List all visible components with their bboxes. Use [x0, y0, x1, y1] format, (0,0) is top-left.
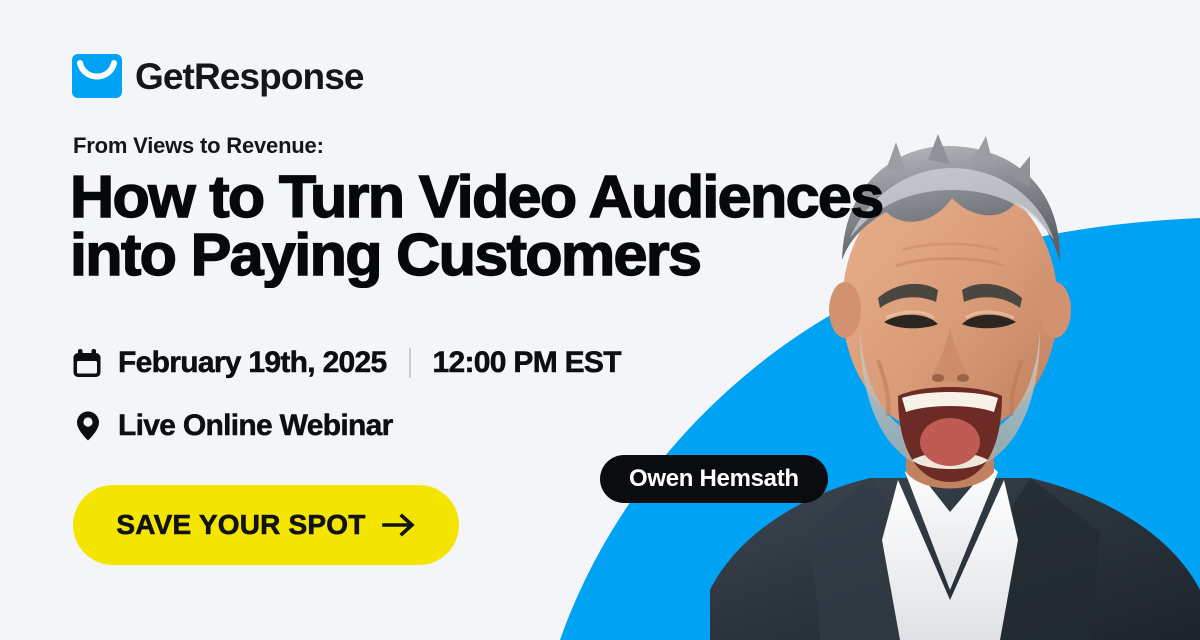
- meta-divider: [409, 348, 411, 378]
- calendar-icon: [72, 347, 102, 379]
- speaker-name-badge: Owen Hemsath: [600, 455, 828, 503]
- eyebrow-text: From Views to Revenue:: [73, 133, 324, 159]
- cta-label: SAVE YOUR SPOT: [116, 509, 365, 541]
- speaker-name: Owen Hemsath: [629, 465, 799, 493]
- logo-wordmark: GetResponse: [135, 58, 364, 95]
- headline-line-1: How to Turn Video Audiences: [70, 168, 1115, 226]
- webinar-location: Live Online Webinar: [72, 404, 393, 448]
- webinar-datetime: February 19th, 2025 12:00 PM EST: [72, 341, 621, 385]
- webinar-time: 12:00 PM EST: [433, 346, 621, 380]
- webinar-date: February 19th, 2025: [118, 346, 387, 380]
- envelope-smile-icon: [72, 54, 122, 98]
- getresponse-logo[interactable]: GetResponse: [72, 54, 364, 98]
- save-your-spot-button[interactable]: SAVE YOUR SPOT: [73, 485, 459, 565]
- webinar-promo-banner: GetResponse From Views to Revenue: How t…: [0, 0, 1200, 640]
- map-pin-icon: [76, 410, 100, 442]
- location-label: Live Online Webinar: [118, 409, 393, 443]
- page-title: How to Turn Video Audiences into Paying …: [70, 168, 1115, 285]
- arrow-right-icon: [382, 513, 416, 537]
- headline-line-2: into Paying Customers: [70, 226, 1115, 284]
